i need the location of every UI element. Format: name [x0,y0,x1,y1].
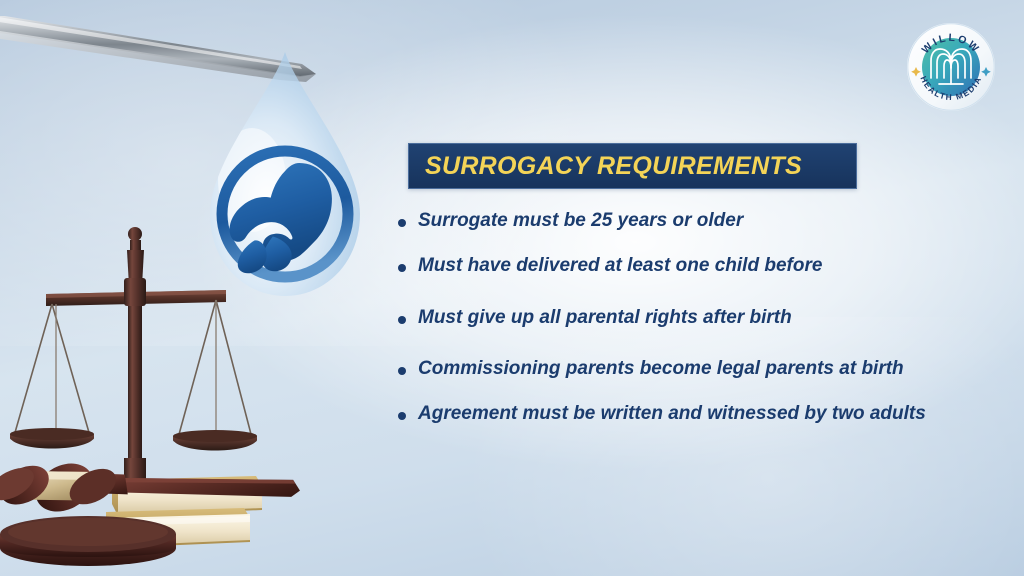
slide-title-bar: SURROGACY REQUIREMENTS [408,143,857,189]
bullet-dot-icon [398,367,406,375]
scales-gavel-books-graphic [0,190,304,576]
list-item: Must give up all parental rights after b… [398,307,978,329]
bullet-dot-icon [398,264,406,272]
willow-health-media-logo[interactable]: WILLOW HEALTH MEDIA [906,22,996,112]
bullet-dot-icon [398,316,406,324]
list-item: Agreement must be written and witnessed … [398,403,978,425]
list-item-label: Must have delivered at least one child b… [418,255,822,277]
list-item-label: Surrogate must be 25 years or older [418,210,743,232]
page-title: SURROGACY REQUIREMENTS [425,152,802,181]
bullet-dot-icon [398,219,406,227]
requirements-list: Surrogate must be 25 years or older Must… [398,210,978,425]
list-item: Commissioning parents become legal paren… [398,358,978,380]
list-item-label: Agreement must be written and witnessed … [418,403,926,425]
list-item: Must have delivered at least one child b… [398,255,978,277]
list-item-label: Must give up all parental rights after b… [418,307,792,329]
bullet-dot-icon [398,412,406,420]
list-item-label: Commissioning parents become legal paren… [418,358,904,380]
gavel-sound-block-icon [0,516,176,566]
surrogacy-requirements-slide: WILLOW HEALTH MEDIA SURROGACY REQUIREMEN… [0,0,1024,576]
list-item: Surrogate must be 25 years or older [398,210,978,232]
